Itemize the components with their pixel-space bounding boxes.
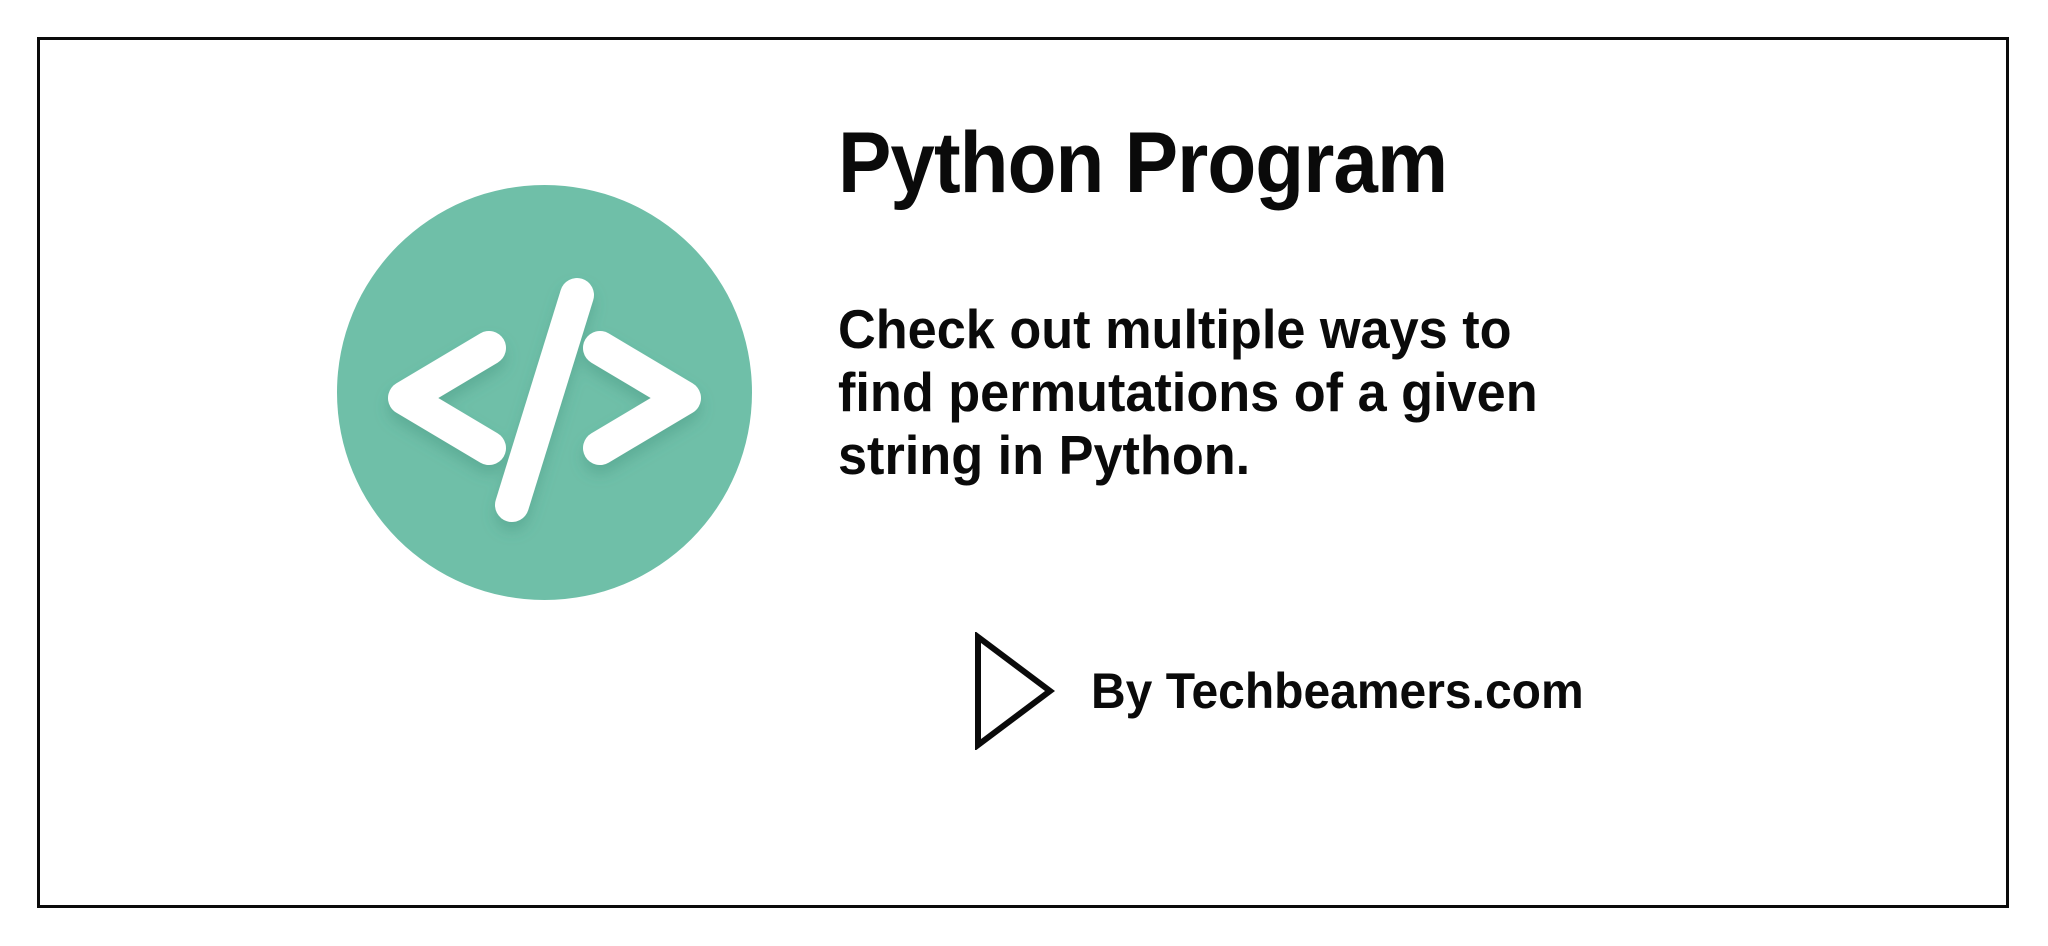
description-line-3: string in Python.	[838, 424, 1883, 487]
slide-canvas: Python Program Check out multiple ways t…	[0, 0, 2048, 946]
description-line-1: Check out multiple ways to	[838, 298, 1883, 361]
code-brackets-icon	[337, 185, 752, 600]
description-line-2: find permutations of a given	[838, 361, 1883, 424]
byline-text: By Techbeamers.com	[1091, 662, 1584, 720]
code-logo	[337, 185, 752, 600]
description-paragraph: Check out multiple ways to find permutat…	[838, 206, 1883, 487]
text-column: Python Program Check out multiple ways t…	[838, 120, 1938, 487]
play-triangle-icon	[973, 632, 1055, 750]
page-title: Python Program	[838, 120, 1861, 206]
byline: By Techbeamers.com	[973, 632, 1604, 750]
